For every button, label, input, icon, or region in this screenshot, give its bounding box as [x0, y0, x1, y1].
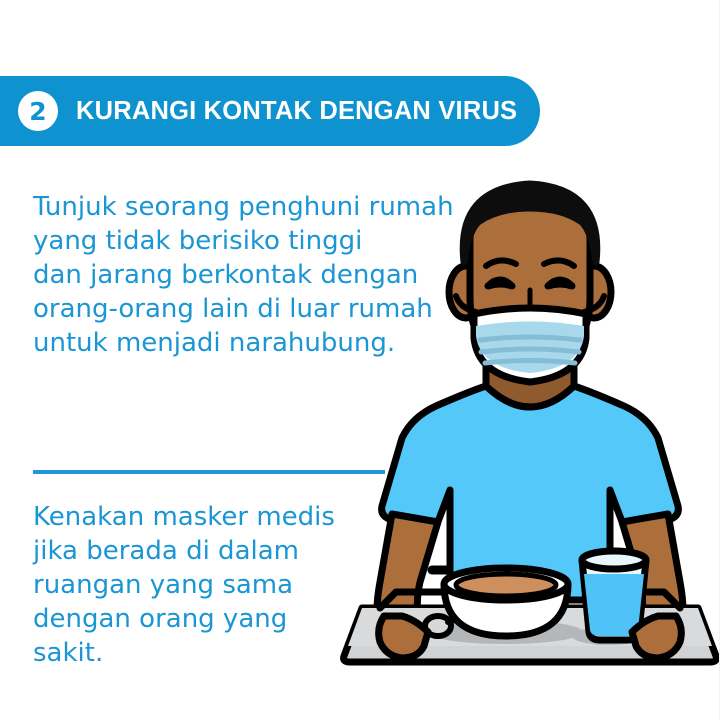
illustration-man-with-tray [340, 170, 720, 720]
soup-bowl [444, 568, 568, 636]
instruction-paragraph-secondary: Kenakan masker medis jika berada di dala… [33, 500, 363, 670]
mask-pleat-3 [485, 361, 575, 364]
soup [456, 574, 556, 596]
left-hand [379, 616, 428, 658]
left-eye [488, 280, 512, 286]
right-eye [548, 280, 572, 286]
page-title: KURANGI KONTAK DENGAN VIRUS [76, 97, 517, 126]
step-header-banner: 2 KURANGI KONTAK DENGAN VIRUS [0, 76, 540, 146]
right-hand [632, 616, 681, 658]
infographic-page: 2 KURANGI KONTAK DENGAN VIRUS Tunjuk seo… [0, 0, 720, 720]
glass-rim [582, 551, 646, 569]
step-number-badge: 2 [18, 91, 58, 131]
section-divider [33, 470, 385, 474]
